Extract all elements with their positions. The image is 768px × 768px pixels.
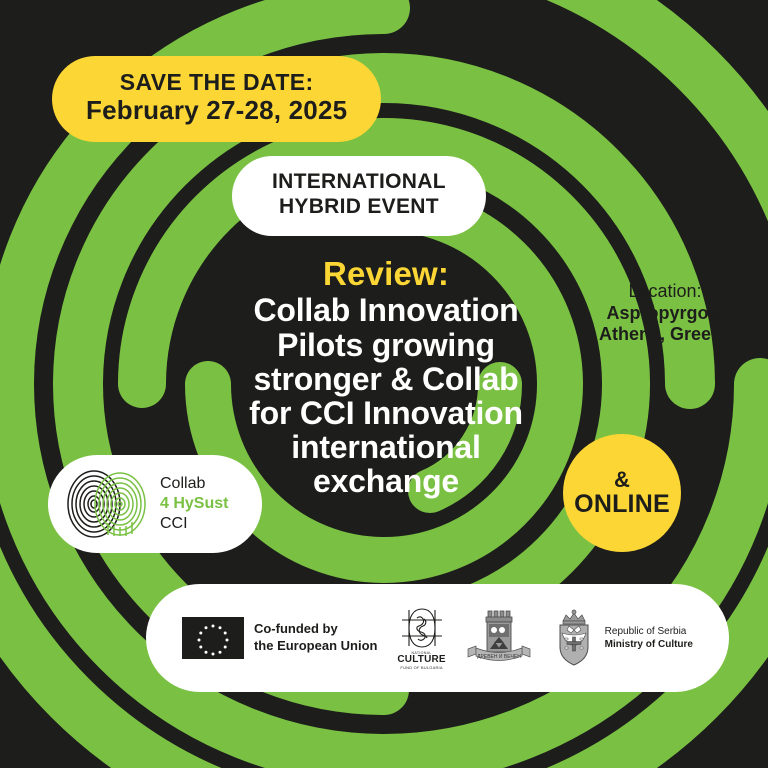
event-type-line1: INTERNATIONAL bbox=[272, 170, 446, 195]
event-type-badge: INTERNATIONAL HYBRID EVENT bbox=[232, 156, 486, 236]
culture-fund-caption-sub: FUND OF BULGARIA bbox=[400, 665, 442, 670]
municipality-coat-of-arms-icon: ДРЕВЕН И ВЕЧЕН bbox=[466, 607, 532, 669]
title-main: Collab Innovation Pilots growing stronge… bbox=[196, 293, 576, 498]
location-line1: Aspropyrgos, bbox=[570, 303, 760, 325]
location-line2: Athens, Greece bbox=[570, 324, 760, 346]
brand-logo: Collab 4 HySust CCI bbox=[48, 455, 262, 553]
serbia-line-2: Ministry of Culture bbox=[605, 638, 693, 652]
eu-line-1: Co-funded by bbox=[254, 621, 378, 638]
brand-line-2: 4 HySust bbox=[160, 494, 228, 514]
location-label: Location: bbox=[570, 281, 760, 303]
eu-funder-text: Co-funded by the European Union bbox=[254, 621, 378, 654]
online-ampersand: & bbox=[614, 468, 630, 491]
european-union-flag-icon bbox=[182, 617, 244, 659]
culture-fund-mark-icon bbox=[398, 606, 446, 650]
title-line: Collab Innovation bbox=[196, 293, 576, 327]
save-the-date-badge: SAVE THE DATE: February 27-28, 2025 bbox=[52, 56, 381, 142]
event-type-line2: HYBRID EVENT bbox=[272, 195, 446, 220]
serbia-ministry-logo: Republic of Serbia Ministry of Culture bbox=[552, 609, 693, 667]
national-culture-fund-logo: NATIONAL CULTURE FUND OF BULGARIA bbox=[397, 606, 445, 670]
title-line: stronger & Collab bbox=[196, 362, 576, 396]
fingerprint-icon bbox=[64, 467, 150, 541]
location-block: Location: Aspropyrgos, Athens, Greece bbox=[570, 281, 760, 346]
municipality-ribbon-text: ДРЕВЕН И ВЕЧЕН bbox=[477, 654, 521, 660]
online-label: ONLINE bbox=[574, 491, 670, 517]
event-poster: SAVE THE DATE: February 27-28, 2025 INTE… bbox=[0, 0, 768, 768]
brand-line-3: CCI bbox=[160, 514, 228, 534]
eu-funder-logo: Co-funded by the European Union bbox=[182, 617, 378, 659]
title-line: international bbox=[196, 430, 576, 464]
online-badge: & ONLINE bbox=[563, 434, 681, 552]
title-kicker: Review: bbox=[196, 256, 576, 291]
municipality-logo: ДРЕВЕН И ВЕЧЕН bbox=[466, 607, 532, 669]
save-the-date-line1: SAVE THE DATE: bbox=[86, 70, 347, 96]
brand-line-1: Collab bbox=[160, 474, 228, 494]
funders-bar: Co-funded by the European Union NATIONAL… bbox=[146, 584, 729, 692]
serbia-ministry-text: Republic of Serbia Ministry of Culture bbox=[605, 625, 693, 652]
serbia-line-1: Republic of Serbia bbox=[605, 625, 693, 639]
location-value: Aspropyrgos, Athens, Greece bbox=[570, 303, 760, 346]
serbian-eagle-crest-icon bbox=[552, 609, 596, 667]
brand-logo-text: Collab 4 HySust CCI bbox=[160, 474, 228, 534]
eu-line-2: the European Union bbox=[254, 638, 378, 655]
page-title: Review: Collab Innovation Pilots growing… bbox=[196, 256, 576, 499]
title-line: Pilots growing bbox=[196, 328, 576, 362]
culture-fund-caption-main: CULTURE bbox=[397, 655, 445, 665]
title-line: for CCI Innovation bbox=[196, 396, 576, 430]
save-the-date-line2: February 27-28, 2025 bbox=[86, 96, 347, 125]
